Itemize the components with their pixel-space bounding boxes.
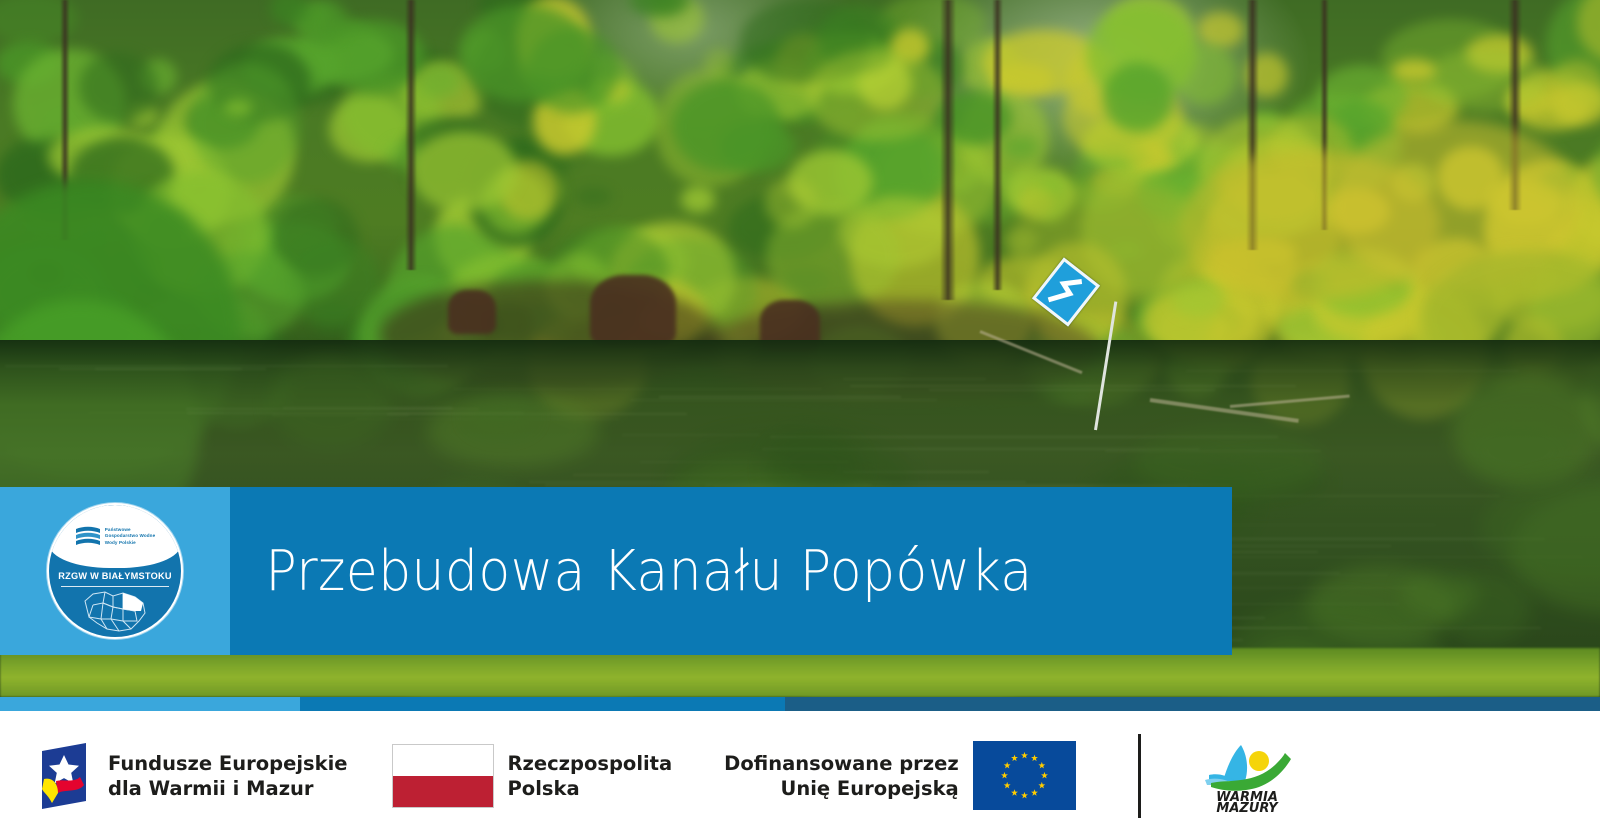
poland-flag-red-stripe	[393, 776, 493, 807]
eu-stars	[973, 741, 1076, 810]
foliage-cluster	[1003, 136, 1039, 158]
eu-flag-icon	[973, 741, 1076, 810]
eu-star	[1011, 789, 1018, 796]
eu-star	[1038, 782, 1045, 789]
pl-line1: Rzeczpospolita	[508, 751, 673, 776]
color-bar-segment-dark-blue	[785, 697, 1600, 711]
poster-root: Państwowe Gospodarstwo Wodne Wody Polski…	[0, 0, 1600, 840]
logo-org-name: Państwowe Gospodarstwo Wodne Wody Polski…	[105, 527, 155, 546]
foliage-cluster	[191, 63, 302, 184]
logo-panel: Państwowe Gospodarstwo Wodne Wody Polski…	[0, 487, 230, 655]
eu-star	[1003, 782, 1010, 789]
tree-trunk	[405, 0, 417, 270]
logo-top-white-area: Państwowe Gospodarstwo Wodne Wody Polski…	[49, 505, 181, 568]
footer-divider	[1138, 734, 1141, 818]
foliage-cluster	[410, 131, 518, 212]
eu-star	[1038, 762, 1045, 769]
water-reflection	[468, 400, 534, 434]
water-ripple	[1186, 370, 1519, 372]
color-bar	[0, 697, 1600, 711]
footer-item-rzeczpospolita-polska: Rzeczpospolita Polska	[392, 744, 673, 808]
tree-stump	[448, 290, 496, 334]
eu-line2: Unię Europejską	[724, 776, 959, 801]
foliage-cluster	[458, 5, 590, 103]
footer-item-warmia-mazury: WARMIA MAZURY	[1201, 739, 1293, 813]
title-panel: Przebudowa Kanału Popówka	[230, 487, 1232, 655]
foliage-cluster	[1103, 63, 1173, 133]
water-ripple	[89, 412, 224, 414]
fe-line1: Fundusze Europejskie	[108, 751, 348, 776]
water-ripple	[5, 365, 448, 367]
foliage-cluster	[807, 49, 947, 141]
foliage-cluster	[419, 64, 460, 98]
foliage-cluster	[681, 186, 715, 213]
foliage-cluster	[704, 49, 734, 78]
eu-star	[1031, 789, 1038, 796]
water-ripple	[850, 385, 1296, 387]
footer-item-dofinansowane-przez-ue: Dofinansowane przez Unię Europejską	[724, 741, 1076, 810]
water-ripple	[59, 368, 266, 370]
logo-region-band: RZGW W BIAŁYMSTOKU	[49, 571, 181, 581]
color-bar-segment-light-blue	[0, 697, 300, 711]
eu-star	[1003, 762, 1010, 769]
eu-label: Dofinansowane przez Unię Europejską	[724, 751, 959, 801]
water-reflection	[1462, 419, 1575, 484]
foliage-cluster	[766, 202, 900, 310]
poland-flag-icon	[392, 744, 494, 808]
fe-label: Fundusze Europejskie dla Warmii i Mazur	[108, 751, 348, 801]
eu-funds-logo-icon	[34, 739, 94, 813]
water-ripple	[843, 378, 986, 380]
pl-line2: Polska	[508, 776, 673, 801]
logo-divider	[61, 586, 169, 587]
footer-item-fundusze-europejskie: Fundusze Europejskie dla Warmii i Mazur	[34, 739, 348, 813]
foliage-cluster	[329, 18, 366, 39]
warmia-mazury-logo-icon: WARMIA MAZURY	[1201, 739, 1293, 813]
eu-star	[1011, 755, 1018, 762]
foliage-cluster	[1424, 49, 1549, 112]
eu-star	[1031, 755, 1038, 762]
foliage-cluster	[79, 52, 159, 121]
foliage-cluster	[1173, 43, 1237, 105]
water-wave-shield-icon	[75, 526, 101, 548]
water-ripple	[929, 389, 1215, 391]
tree-stump	[590, 275, 676, 347]
water-ripple	[659, 396, 902, 398]
footer-logos: Fundusze Europejskie dla Warmii i Mazur …	[0, 711, 1600, 840]
tree-trunk	[940, 0, 956, 300]
fe-line2: dla Warmii i Mazur	[108, 776, 348, 801]
eu-star	[1001, 772, 1008, 779]
eu-line1: Dofinansowane przez	[724, 751, 959, 776]
grass-strip	[0, 648, 1600, 697]
wm-word2: MAZURY	[1216, 801, 1279, 813]
water-reflection	[1134, 428, 1323, 496]
foliage-cluster	[223, 99, 253, 117]
rzgw-logo: Państwowe Gospodarstwo Wodne Wody Polski…	[47, 503, 183, 639]
eu-star	[1041, 772, 1048, 779]
water-reflection	[270, 357, 392, 449]
foliage-cluster	[673, 81, 781, 172]
pl-label: Rzeczpospolita Polska	[508, 751, 673, 801]
water-ripple	[453, 388, 822, 390]
poland-map-icon	[79, 589, 151, 633]
foliage-cluster	[575, 187, 613, 206]
eu-star	[1021, 792, 1028, 799]
logo-org-line3: Wody Polskie	[105, 540, 136, 545]
page-title: Przebudowa Kanału Popówka	[230, 539, 1033, 604]
eu-star	[1021, 752, 1028, 759]
water-ripple	[630, 399, 937, 401]
water-reflection	[1480, 474, 1600, 584]
color-bar-segment-mid-blue	[300, 697, 785, 711]
tree-trunk	[992, 0, 1003, 290]
foliage-cluster	[1392, 59, 1436, 81]
title-banner: Państwowe Gospodarstwo Wodne Wody Polski…	[0, 487, 1232, 655]
